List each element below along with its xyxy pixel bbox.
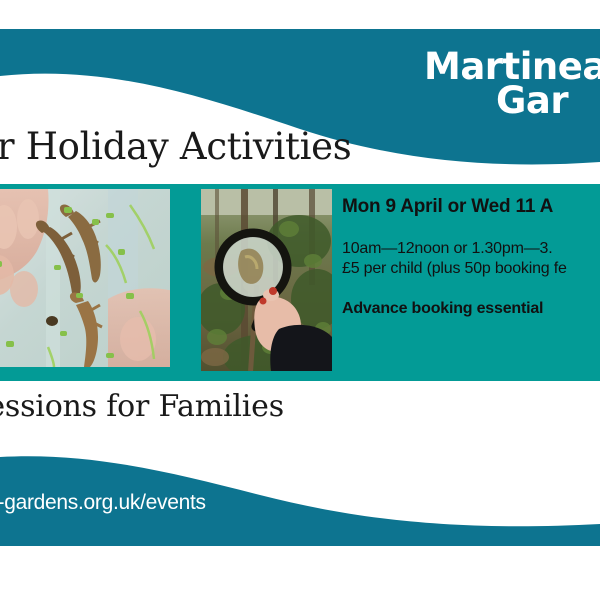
- martineau-gardens-logo: Martineau Gar: [424, 50, 600, 118]
- logo-line-gardens: Gar: [424, 84, 600, 118]
- event-details: Mon 9 April or Wed 11 A 10am—12noon or 1…: [342, 196, 600, 318]
- details-band: Mon 9 April or Wed 11 A 10am—12noon or 1…: [0, 184, 600, 381]
- magnifying-glass-photo: [201, 189, 332, 371]
- website-url[interactable]: neau-gardens.org.uk/events: [0, 491, 206, 515]
- page-subtitle: Sessions for Families: [0, 389, 284, 424]
- event-price: £5 per child (plus 50p booking fe: [342, 260, 600, 278]
- page-title: ster Holiday Activities: [0, 125, 351, 168]
- poster-canvas: Martineau Gar ster Holiday Activities: [0, 0, 600, 600]
- newts-in-tray-photo: [0, 189, 170, 367]
- event-times: 10am—12noon or 1.30pm—3.: [342, 240, 600, 258]
- event-dates: Mon 9 April or Wed 11 A: [342, 196, 600, 218]
- booking-notice: Advance booking essential: [342, 300, 600, 318]
